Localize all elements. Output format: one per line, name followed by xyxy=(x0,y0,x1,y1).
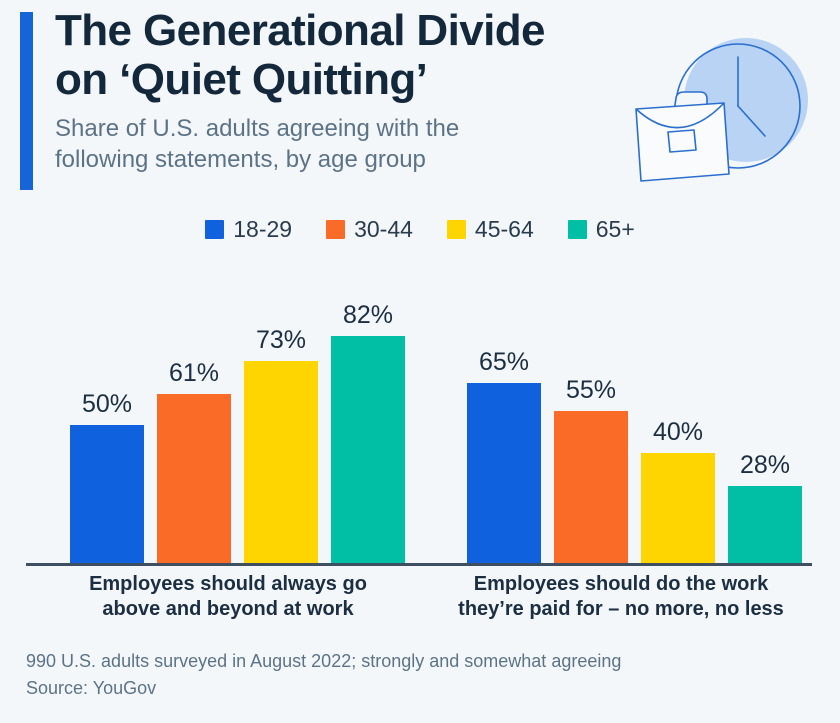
legend-item-65-plus[interactable]: 65+ xyxy=(568,218,635,241)
chart-plot-area: 50% 61% 73% 82% 65% xyxy=(26,272,812,564)
header: The Generational Divide on ‘Quiet Quitti… xyxy=(0,0,840,205)
bar-group-statement-1: 50% 61% 73% 82% xyxy=(26,272,430,564)
legend-label: 30-44 xyxy=(354,218,413,241)
bar-value-label: 65% xyxy=(479,350,529,375)
chart-legend: 18-29 30-44 45-64 65+ xyxy=(0,218,840,241)
page-subtitle: Share of U.S. adults agreeing with the f… xyxy=(55,113,655,175)
legend-swatch-icon xyxy=(326,220,345,239)
category-label: Employees should do the work they’re pai… xyxy=(430,572,812,622)
bar[interactable] xyxy=(157,394,231,564)
bar-value-label: 50% xyxy=(82,392,132,417)
category-label-wrap-1: Employees should always go above and bey… xyxy=(26,572,430,622)
bar[interactable] xyxy=(70,425,144,564)
bar-slot[interactable]: 65% xyxy=(467,272,541,564)
bar[interactable] xyxy=(331,336,405,564)
legend-swatch-icon xyxy=(447,220,466,239)
bar-value-label: 28% xyxy=(740,453,790,478)
footer-note: 990 U.S. adults surveyed in August 2022;… xyxy=(26,648,816,675)
bar-slot[interactable]: 28% xyxy=(728,272,802,564)
category-label: Employees should always go above and bey… xyxy=(26,572,430,622)
legend-label: 65+ xyxy=(596,218,635,241)
bar-value-label: 61% xyxy=(169,361,219,386)
page-title: The Generational Divide on ‘Quiet Quitti… xyxy=(55,6,655,104)
bar-slot[interactable]: 82% xyxy=(331,272,405,564)
clock-briefcase-illustration xyxy=(628,28,828,203)
bar-chart: 50% 61% 73% 82% 65% xyxy=(26,272,812,564)
bar-slot[interactable]: 55% xyxy=(554,272,628,564)
bar-group-statement-2: 65% 55% 40% 28% xyxy=(430,272,812,564)
header-illustration xyxy=(628,28,828,203)
bar-slot[interactable]: 73% xyxy=(244,272,318,564)
infographic-root: The Generational Divide on ‘Quiet Quitti… xyxy=(0,0,840,723)
bar-value-label: 40% xyxy=(653,420,703,445)
category-label-wrap-2: Employees should do the work they’re pai… xyxy=(430,572,812,622)
bar-slot[interactable]: 40% xyxy=(641,272,715,564)
bar[interactable] xyxy=(467,383,541,564)
legend-swatch-icon xyxy=(205,220,224,239)
title-accent-bar xyxy=(20,12,33,190)
briefcase-clasp xyxy=(668,130,696,152)
title-block: The Generational Divide on ‘Quiet Quitti… xyxy=(55,6,655,175)
legend-label: 45-64 xyxy=(475,218,534,241)
footer-source: Source: YouGov xyxy=(26,675,816,702)
bar-value-label: 82% xyxy=(343,303,393,328)
bar-value-label: 73% xyxy=(256,328,306,353)
bar[interactable] xyxy=(554,411,628,564)
bar[interactable] xyxy=(244,361,318,564)
legend-item-18-29[interactable]: 18-29 xyxy=(205,218,292,241)
legend-item-30-44[interactable]: 30-44 xyxy=(326,218,413,241)
legend-swatch-icon xyxy=(568,220,587,239)
category-labels: Employees should always go above and bey… xyxy=(26,572,812,622)
bar-value-label: 55% xyxy=(566,378,616,403)
legend-label: 18-29 xyxy=(233,218,292,241)
footer: 990 U.S. adults surveyed in August 2022;… xyxy=(26,648,816,702)
bar-slot[interactable]: 61% xyxy=(157,272,231,564)
bar-slot[interactable]: 50% xyxy=(70,272,144,564)
x-axis-line xyxy=(26,563,812,566)
bar[interactable] xyxy=(728,486,802,564)
bar[interactable] xyxy=(641,453,715,564)
legend-item-45-64[interactable]: 45-64 xyxy=(447,218,534,241)
